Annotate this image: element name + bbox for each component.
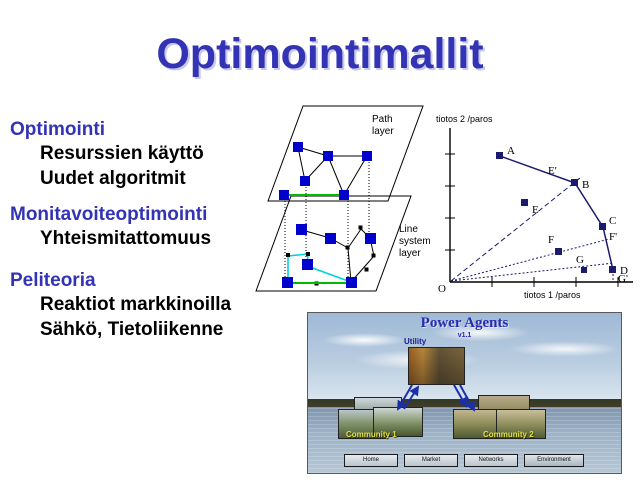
chart-label-A: A bbox=[507, 145, 515, 157]
power-agents-screenshot: Power Agents v1.1 Utility Community 1 Co bbox=[307, 312, 622, 474]
chart-ray-G bbox=[451, 263, 614, 281]
chart-point-C bbox=[599, 223, 606, 230]
path-layer-label: Path layer bbox=[372, 114, 394, 138]
efficiency-chart: tiotos 2 /paros tiotos 1 /paros bbox=[428, 112, 638, 307]
path-layer-label-line1: Path bbox=[372, 114, 394, 126]
line-system-layer-edges bbox=[302, 229, 374, 282]
layer-diagram: Path layer Line system layer bbox=[248, 96, 438, 311]
chart-point-E bbox=[521, 199, 528, 206]
path-layer-label-line2: layer bbox=[372, 126, 394, 138]
chart-label-E-prime: E' bbox=[548, 165, 557, 177]
chart-point-B bbox=[571, 179, 578, 186]
line-system-cyan-edges bbox=[288, 254, 351, 282]
layer-correspondence-lines bbox=[285, 153, 369, 278]
chart-label-G: G bbox=[576, 254, 584, 266]
path-layer-plane bbox=[268, 106, 423, 201]
arrow-utility-to-c1 bbox=[398, 385, 412, 409]
chart-ray-F bbox=[451, 239, 609, 281]
power-agents-button-environment[interactable]: Environment bbox=[524, 454, 584, 467]
slide-canvas: Optimointimallit Optimointi Resurssien k… bbox=[0, 0, 640, 480]
line-system-layer-label: Line system layer bbox=[399, 224, 431, 260]
power-agents-button-home[interactable]: Home bbox=[344, 454, 398, 467]
chart-point-F bbox=[555, 248, 562, 255]
chart-label-E: E bbox=[532, 204, 539, 216]
community2-label: Community 2 bbox=[483, 430, 534, 439]
line-layer-label-line3: layer bbox=[399, 248, 431, 260]
chart-svg: A B C D E F G E' F' G' O bbox=[428, 112, 638, 307]
chart-point-G bbox=[581, 267, 587, 273]
arrow-utility-to-c2 bbox=[454, 385, 466, 406]
bullet-item-sahko-tietoliikenne: Sähkö, Tietoliikenne bbox=[40, 317, 300, 342]
power-agents-button-market[interactable]: Market bbox=[404, 454, 458, 467]
chart-label-B: B bbox=[582, 179, 589, 191]
power-agents-button-networks[interactable]: Networks bbox=[464, 454, 518, 467]
community1-label: Community 1 bbox=[346, 430, 397, 439]
line-layer-label-line2: system bbox=[399, 236, 431, 248]
layer-diagram-svg bbox=[248, 96, 438, 311]
chart-x-axis-label: tiotos 1 /paros bbox=[524, 290, 581, 300]
chart-label-C: C bbox=[609, 215, 616, 227]
line-system-layer-nodes bbox=[282, 224, 376, 288]
chart-label-F-prime: F' bbox=[609, 231, 617, 243]
chart-point-D bbox=[609, 266, 616, 273]
page-title: Optimointimallit bbox=[0, 30, 640, 79]
chart-ray-E bbox=[451, 178, 580, 281]
chart-label-G-prime: G' bbox=[618, 273, 628, 285]
line-layer-label-line1: Line bbox=[399, 224, 431, 236]
chart-label-origin: O bbox=[438, 283, 446, 295]
chart-y-axis-label: tiotos 2 /paros bbox=[436, 114, 493, 124]
arrow-c1-to-utility bbox=[404, 387, 418, 409]
chart-point-A bbox=[496, 152, 503, 159]
chart-label-F: F bbox=[548, 234, 554, 246]
agent-flow-arrows bbox=[308, 313, 621, 473]
